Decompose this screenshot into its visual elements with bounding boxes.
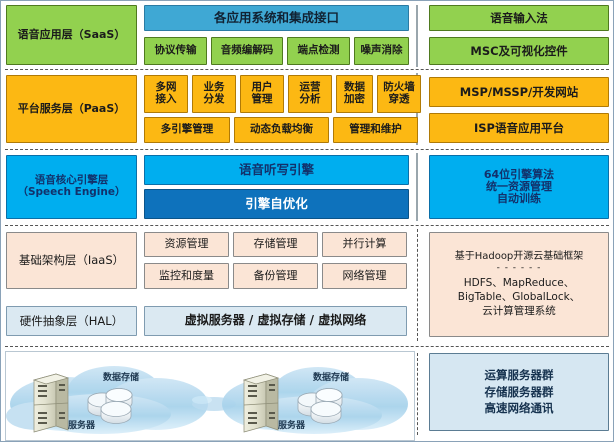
- saas-right-msc-widgets: MSC及可视化控件: [429, 37, 609, 65]
- engine-right-features: 64位引擎算法 统一资源管理 自动训练: [429, 155, 609, 219]
- separator-engine-iaas: [5, 225, 609, 226]
- iaas-right-hadoop-stack: 基于Hadoop开源云基础框架 - - - - - - HDFS、MapRedu…: [429, 232, 609, 337]
- architecture-diagram: 语音应用层（SaaS） 各应用系统和集成接口 协议传输 音频编解码 端点检测 噪…: [0, 0, 614, 442]
- separator-saas-paas: [5, 69, 609, 70]
- saas-item-noise-cancel: 噪声消除: [354, 37, 409, 65]
- separator-hal-physical: [5, 346, 609, 347]
- paas-item-dynamic-load-balance: 动态负载均衡: [234, 117, 329, 143]
- hadoop-divider: - - - - - -: [428, 263, 610, 275]
- layer-label-paas: 平台服务层（PaaS）: [6, 75, 137, 143]
- cloud-label-server-left: 服务器: [68, 418, 95, 431]
- layer-label-hal: 硬件抽象层（HAL）: [6, 306, 137, 336]
- server-rack-left: [34, 374, 68, 432]
- iaas-item-resource-mgmt: 资源管理: [144, 232, 229, 257]
- engine-self-optimization: 引擎自优化: [144, 189, 409, 219]
- column-divider-physical: [417, 353, 418, 435]
- paas-item-data-encryption: 数据 加密: [336, 75, 373, 113]
- paas-item-multinet-access: 多网 接入: [144, 75, 188, 113]
- iaas-item-parallel-compute: 并行计算: [322, 232, 407, 257]
- paas-item-service-dispatch: 业务 分发: [192, 75, 236, 113]
- iaas-item-backup-mgmt: 备份管理: [233, 263, 318, 289]
- layer-label-iaas: 基础架构层（IaaS）: [6, 232, 137, 289]
- paas-right-msp-mssp: MSP/MSSP/开发网站: [429, 77, 609, 107]
- layer-label-speech-engine: 语音核心引擎层 （Speech Engine）: [6, 155, 137, 219]
- server-rack-right: [244, 374, 278, 432]
- hadoop-line-3: 云计算管理系统: [428, 305, 610, 319]
- layer-label-saas: 语音应用层（SaaS）: [6, 5, 137, 65]
- cloud-label-storage-left: 数据存储: [103, 370, 139, 383]
- saas-right-voice-input: 语音输入法: [429, 5, 609, 31]
- saas-header-box: 各应用系统和集成接口: [144, 5, 409, 31]
- column-divider-upper: [416, 5, 418, 67]
- physical-cloud-illustration: 数据存储 服务器 数据存储 服务器: [5, 351, 415, 441]
- cloud-label-server-right: 服务器: [278, 418, 305, 431]
- physical-right-infrastructure: 运算服务器群 存储服务器群 高速网络通讯: [429, 353, 609, 431]
- column-divider-engine: [416, 153, 418, 221]
- iaas-item-storage-mgmt: 存储管理: [233, 232, 318, 257]
- paas-item-operation-analysis: 运营 分析: [288, 75, 332, 113]
- physical-line-1: 运算服务器群: [428, 367, 610, 384]
- iaas-item-network-mgmt: 网络管理: [322, 263, 407, 289]
- physical-line-2: 存储服务器群: [428, 384, 610, 401]
- physical-line-3: 高速网络通讯: [428, 400, 610, 417]
- paas-item-user-management: 用户 管理: [240, 75, 284, 113]
- column-divider-iaas: [417, 229, 418, 341]
- cloud-label-storage-right: 数据存储: [313, 370, 349, 383]
- paas-item-maintenance: 管理和维护: [333, 117, 418, 143]
- iaas-item-monitoring: 监控和度量: [144, 263, 229, 289]
- paas-right-isp-platform: ISP语音应用平台: [429, 113, 609, 143]
- hadoop-title: 基于Hadoop开源云基础框架: [428, 250, 610, 263]
- engine-header-dictation: 语音听写引擎: [144, 155, 409, 185]
- saas-item-audio-codec: 音频编解码: [211, 37, 283, 65]
- hadoop-line-1: HDFS、MapReduce、: [428, 277, 610, 291]
- hal-virtual-resources: 虚拟服务器 / 虚拟存储 / 虚拟网络: [144, 306, 407, 336]
- hadoop-line-2: BigTable、GlobalLock、: [428, 291, 610, 305]
- paas-item-firewall-traversal: 防火墙 穿透: [377, 75, 421, 113]
- separator-paas-engine: [5, 149, 609, 150]
- paas-item-multi-engine-mgmt: 多引擎管理: [144, 117, 230, 143]
- saas-item-endpoint-detection: 端点检测: [287, 37, 350, 65]
- saas-item-protocol: 协议传输: [144, 37, 207, 65]
